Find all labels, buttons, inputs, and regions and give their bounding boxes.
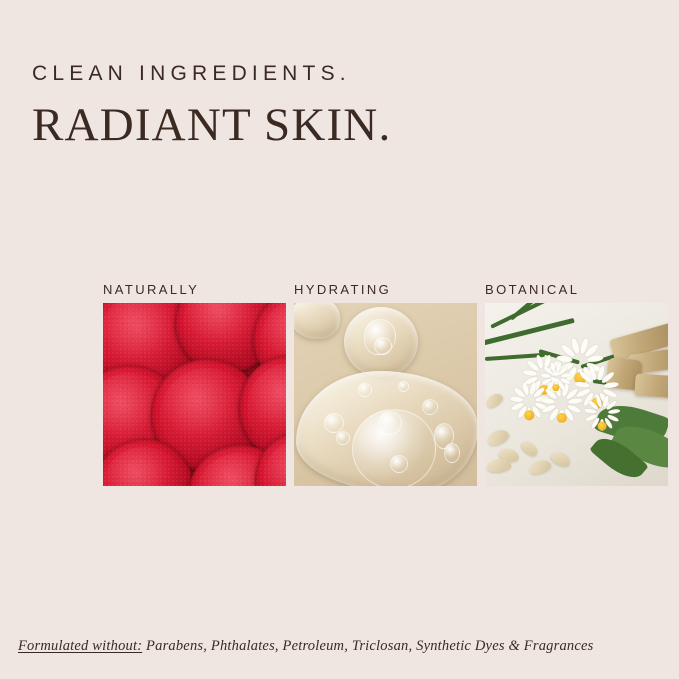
botanical-extracts-photo xyxy=(485,303,668,486)
chamomile-flower xyxy=(589,413,615,439)
footer-list: Parabens, Phthalates, Petroleum, Triclos… xyxy=(142,638,593,654)
headline-hero: RADIANT SKIN. xyxy=(32,101,391,150)
headline-kicker: CLEAN INGREDIENTS. xyxy=(32,62,391,85)
footer-disclaimer: Formulated without: Parabens, Phthalates… xyxy=(18,638,593,655)
ingredient-column-dha: NATURALLY DERIVED DHA xyxy=(103,262,286,486)
ingredient-column-botanical: BOTANICAL EXTRACTS xyxy=(485,262,668,486)
ingredient-row: NATURALLY DERIVED DHA HYDRATING GLYCERIN xyxy=(103,262,679,486)
flower-center xyxy=(552,384,559,391)
ingredient-label-dha-line1: NATURALLY xyxy=(103,282,199,297)
chamomile-flower xyxy=(515,401,543,429)
ingredient-label-botanical-line1: BOTANICAL xyxy=(485,282,579,297)
beet-texture-overlay xyxy=(103,303,286,486)
ingredient-label-botanical: BOTANICAL EXTRACTS xyxy=(485,262,668,303)
flower-center xyxy=(598,422,607,431)
ingredient-label-glycerin-line1: HYDRATING xyxy=(294,282,391,297)
headline-block: CLEAN INGREDIENTS. RADIANT SKIN. xyxy=(32,62,391,150)
ingredient-label-glycerin: HYDRATING GLYCERIN xyxy=(294,262,477,303)
beet-slices-photo xyxy=(103,303,286,486)
footer-lead: Formulated without: xyxy=(18,638,142,654)
flower-center xyxy=(524,410,534,420)
flower-center xyxy=(557,413,567,423)
ingredient-label-dha: NATURALLY DERIVED DHA xyxy=(103,262,286,303)
ingredient-claims-graphic: CLEAN INGREDIENTS. RADIANT SKIN. NATURAL… xyxy=(0,0,679,679)
glycerin-gel-photo xyxy=(294,303,477,486)
ingredient-column-glycerin: HYDRATING GLYCERIN xyxy=(294,262,477,486)
chamomile-flower xyxy=(547,403,577,433)
chamomile-flower xyxy=(545,377,567,399)
